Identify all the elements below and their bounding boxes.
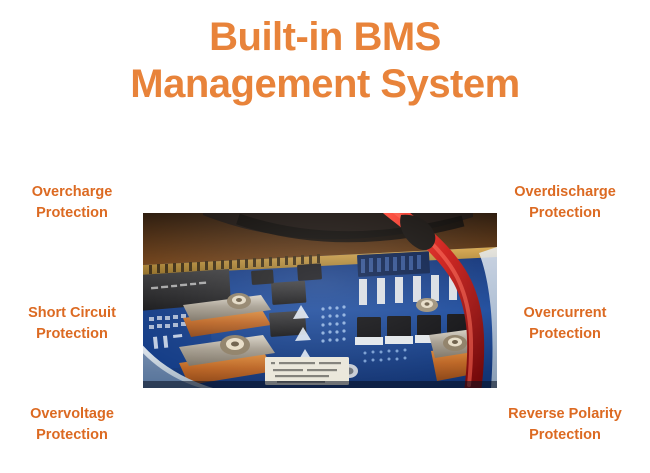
title-line-1: Built-in BMS	[0, 14, 650, 61]
feature-label-line-2: Protection	[492, 425, 638, 446]
slide-canvas: Built-in BMS Management System Overcharg…	[0, 0, 650, 473]
title-line-2: Management System	[0, 61, 650, 108]
feature-label-line-1: Overvoltage	[6, 404, 138, 425]
feature-label-short-circuit-protection: Short Circuit Protection	[6, 303, 138, 344]
feature-label-line-1: Overdischarge	[492, 182, 638, 203]
page-title: Built-in BMS Management System	[0, 14, 650, 108]
feature-label-line-1: Overcurrent	[492, 303, 638, 324]
feature-label-line-2: Protection	[6, 324, 138, 345]
feature-label-line-2: Protection	[6, 425, 138, 446]
feature-label-line-1: Reverse Polarity	[492, 404, 638, 425]
feature-label-line-2: Protection	[492, 203, 638, 224]
feature-label-overcurrent-protection: Overcurrent Protection	[492, 303, 638, 344]
photo-lighting-glow	[143, 213, 497, 388]
feature-label-line-2: Protection	[492, 324, 638, 345]
bms-board-illustration	[143, 213, 497, 388]
photo-bottom-shadow	[143, 381, 497, 388]
feature-label-overdischarge-protection: Overdischarge Protection	[492, 182, 638, 223]
feature-label-line-2: Protection	[6, 203, 138, 224]
feature-label-line-1: Short Circuit	[6, 303, 138, 324]
feature-label-overcharge-protection: Overcharge Protection	[6, 182, 138, 223]
feature-label-line-1: Overcharge	[6, 182, 138, 203]
feature-label-overvoltage-protection: Overvoltage Protection	[6, 404, 138, 445]
feature-label-reverse-polarity-protection: Reverse Polarity Protection	[492, 404, 638, 445]
bms-board-photo	[143, 213, 497, 388]
